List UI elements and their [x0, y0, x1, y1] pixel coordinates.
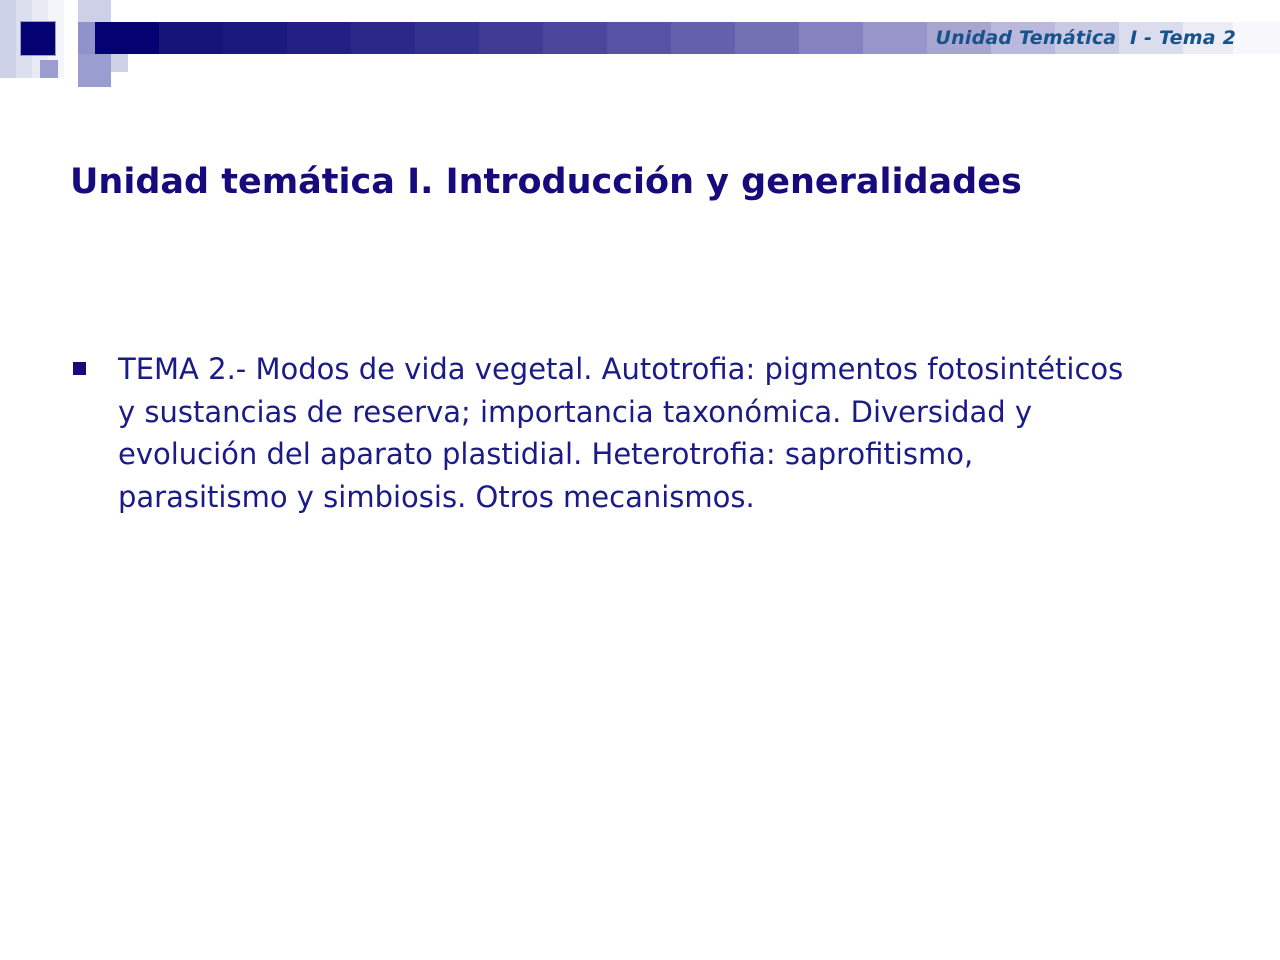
bar-segment-10	[671, 22, 735, 54]
deco-block-periwinkle-b	[78, 54, 111, 87]
bar-segment-6	[415, 22, 479, 54]
bar-segment-8	[543, 22, 607, 54]
deco-block-top-lavender	[78, 0, 111, 22]
bar-segment-5	[351, 22, 415, 54]
deco-square-navy	[20, 21, 56, 56]
deco-block-lavender-c	[40, 60, 58, 78]
slide: Unidad Temática I - Tema 2 Unidad temáti…	[0, 0, 1280, 960]
bar-segment-9	[607, 22, 671, 54]
content-body: TEMA 2.- Modos de vida vegetal. Autotrof…	[70, 348, 1200, 518]
bar-segment-11	[735, 22, 799, 54]
bar-segment-12	[799, 22, 863, 54]
header-unit-label: Unidad Temática I - Tema 2	[936, 25, 1236, 51]
page-title: Unidad temática I. Introducción y genera…	[70, 160, 1220, 204]
bar-segment-13	[863, 22, 927, 54]
deco-strip-1	[0, 0, 16, 78]
bar-segment-4	[287, 22, 351, 54]
bar-segment-3	[223, 22, 287, 54]
bar-segment-2	[159, 22, 223, 54]
bar-segment-19	[1233, 22, 1280, 54]
bar-segment-1	[95, 22, 159, 54]
list-item: TEMA 2.- Modos de vida vegetal. Autotrof…	[70, 348, 1200, 518]
bar-segment-7	[479, 22, 543, 54]
bullet-item-text: TEMA 2.- Modos de vida vegetal. Autotrof…	[118, 348, 1138, 518]
square-bullet-icon	[73, 362, 86, 375]
header-decoration: Unidad Temática I - Tema 2	[0, 0, 1280, 95]
